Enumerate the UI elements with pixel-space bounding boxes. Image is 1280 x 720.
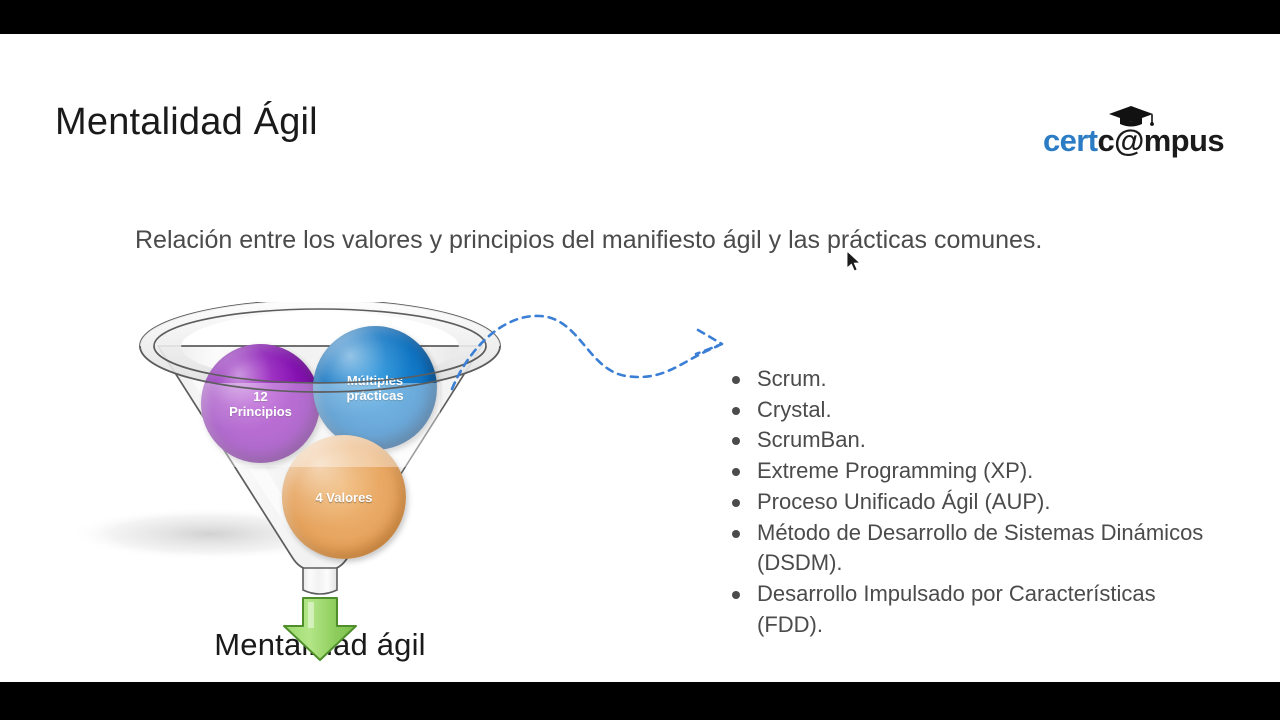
mouse-cursor [846, 250, 864, 274]
logo-text-campus: c@mpus [1097, 123, 1224, 158]
bullet-dot-icon [732, 407, 740, 415]
practices-list: Scrum. Crystal. ScrumBan. Extreme Progra… [725, 364, 1225, 640]
list-item-label: Desarrollo Impulsado por Características… [757, 581, 1156, 637]
logo-wordmark: certc@mpus [1043, 125, 1224, 156]
bullet-dot-icon [732, 499, 740, 507]
list-item: Proceso Unificado Ágil (AUP). [725, 487, 1225, 518]
letterbox-bottom [0, 682, 1280, 720]
bullet-dot-icon [732, 530, 740, 538]
bullet-dot-icon [732, 437, 740, 445]
list-item-label: ScrumBan. [757, 427, 866, 452]
dashed-connector-arrow [430, 294, 770, 404]
list-item: ScrumBan. [725, 425, 1225, 456]
slide-canvas: Mentalidad Ágil certc@mpus Relación entr… [0, 34, 1280, 682]
bullet-dot-icon [732, 591, 740, 599]
brand-logo: certc@mpus [1018, 104, 1224, 156]
list-item: Método de Desarrollo de Sistemas Dinámic… [725, 518, 1225, 579]
list-item: Desarrollo Impulsado por Características… [725, 579, 1225, 640]
list-item-label: Proceso Unificado Ágil (AUP). [757, 489, 1050, 514]
list-item: Scrum. [725, 364, 1225, 395]
list-item-label: Método de Desarrollo de Sistemas Dinámic… [757, 520, 1203, 576]
list-item: Extreme Programming (XP). [725, 456, 1225, 487]
bullet-dot-icon [732, 468, 740, 476]
list-item-label: Extreme Programming (XP). [757, 458, 1033, 483]
logo-text-cert: cert [1043, 123, 1097, 158]
video-player-screen: Mentalidad Ágil certc@mpus Relación entr… [0, 0, 1280, 720]
page-title: Mentalidad Ágil [55, 102, 318, 144]
list-item: Crystal. [725, 395, 1225, 426]
intro-paragraph: Relación entre los valores y principios … [55, 222, 1223, 259]
letterbox-top [0, 0, 1280, 34]
